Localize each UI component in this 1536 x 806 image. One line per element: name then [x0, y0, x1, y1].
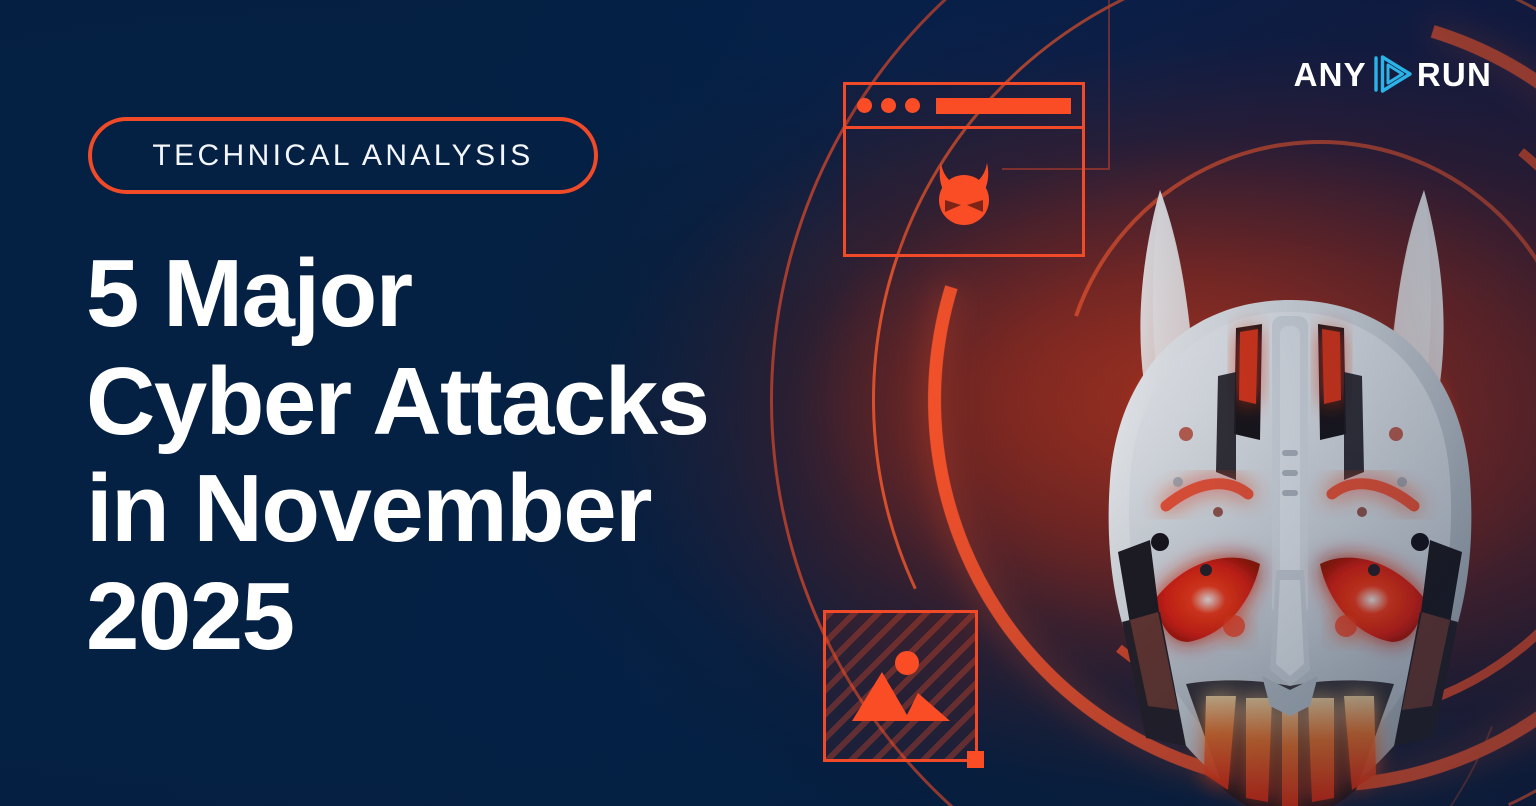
logo-text-run: RUN — [1417, 58, 1492, 91]
headline-line-1: 5 Major — [86, 240, 886, 348]
headline-line-2: Cyber Attacks — [86, 348, 886, 456]
play-triangle-icon — [1371, 54, 1413, 94]
logo-text-any: ANY — [1294, 58, 1367, 91]
browser-title-bar — [846, 85, 1082, 129]
devil-face-icon — [925, 153, 1003, 231]
headline-line-4: 2025 — [86, 563, 886, 671]
badge-label: TECHNICAL ANALYSIS — [152, 139, 533, 173]
browser-dot-3 — [905, 98, 920, 113]
headline-line-3: in November — [86, 455, 886, 563]
resize-handle[interactable] — [967, 751, 984, 768]
browser-content-area — [846, 129, 1082, 254]
image-placeholder-icon — [823, 610, 978, 762]
technical-analysis-badge: TECHNICAL ANALYSIS — [88, 117, 598, 194]
mountains-and-sun-icon — [850, 643, 952, 729]
anyrun-logo[interactable]: ANY RUN — [1294, 52, 1492, 96]
browser-dot-2 — [881, 98, 896, 113]
browser-dot-1 — [857, 98, 872, 113]
page-title: 5 Major Cyber Attacks in November 2025 — [86, 240, 886, 670]
browser-window-icon — [843, 82, 1085, 257]
banner-root: ANY RUN TECHNICAL ANALYSIS 5 Major Cyber… — [0, 0, 1536, 806]
browser-url-bar — [936, 98, 1071, 114]
